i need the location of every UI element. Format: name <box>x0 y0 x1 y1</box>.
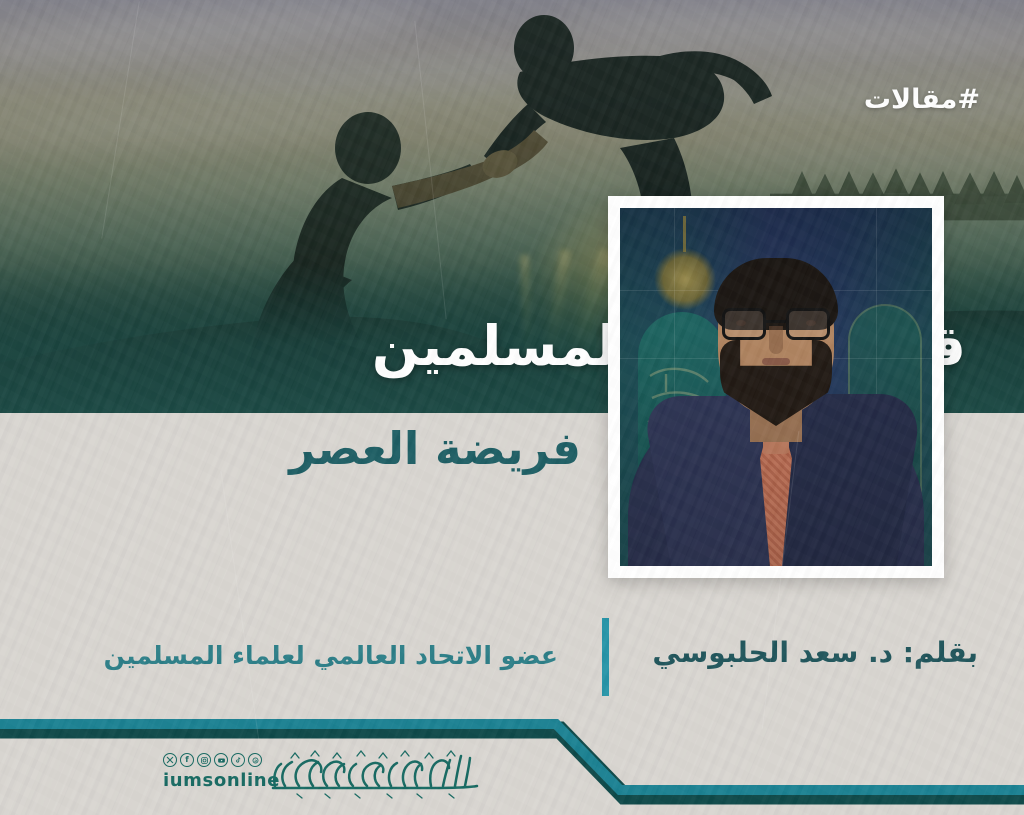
byline-divider <box>602 618 609 696</box>
author-photo-frame <box>608 196 944 578</box>
social-icons-row[interactable]: f <box>163 753 262 767</box>
tiktok-glyph <box>234 756 242 764</box>
threads-glyph <box>251 756 260 765</box>
hashtag-label: #مقالات <box>864 84 980 115</box>
page-title-line-2: فريضة العصر <box>289 425 581 472</box>
author-role: عضو الاتحاد العالمي لعلماء المسلمين <box>104 641 558 670</box>
facebook-icon[interactable]: f <box>180 753 194 767</box>
instagram-glyph <box>200 756 209 765</box>
youtube-icon[interactable] <box>214 753 228 767</box>
tiktok-icon[interactable] <box>231 753 245 767</box>
x-glyph <box>166 756 174 764</box>
author-byline: بقلم: د. سعد الحلبوسي <box>652 636 978 669</box>
youtube-glyph <box>217 756 226 765</box>
article-poster: #مقالات قضاء حوائج المسلمين فريضة العصر <box>0 0 1024 815</box>
logo-arabic-calligraphy: الاتحاد العالمي لعلماء المسلمين <box>267 748 483 804</box>
author-photo <box>620 208 932 566</box>
threads-icon[interactable] <box>248 753 262 767</box>
logo-wordmark[interactable]: iumsonline <box>163 770 280 791</box>
instagram-icon[interactable] <box>197 753 211 767</box>
photo-vignette <box>620 208 932 566</box>
iums-logo[interactable]: f <box>163 752 483 804</box>
x-icon[interactable] <box>163 753 177 767</box>
bottom-stepped-accent <box>0 700 1024 815</box>
